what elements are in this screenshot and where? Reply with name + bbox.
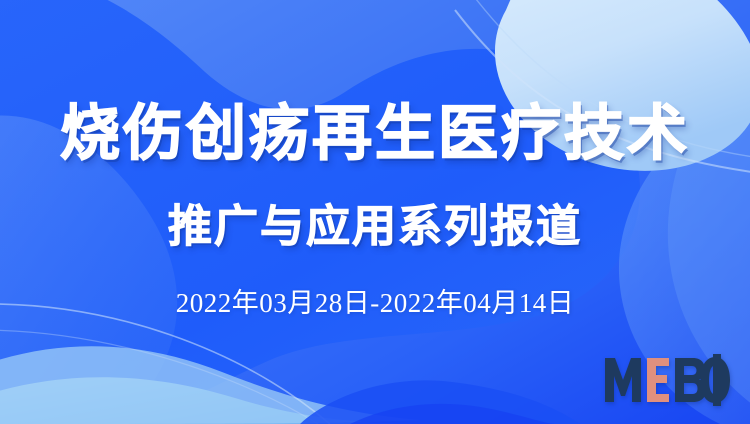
mebo-logo [603, 352, 735, 408]
banner-content: 烧伤创疡再生医疗技术 推广与应用系列报道 2022年03月28日-2022年04… [0, 0, 750, 424]
logo-glyph-m [605, 358, 641, 402]
logo-letterforms [605, 354, 730, 406]
date-range-label: 2022年03月28日-2022年04月14日 [0, 286, 750, 320]
logo-glyph-o-bar [713, 354, 721, 406]
page-title: 烧伤创疡再生医疗技术 [0, 99, 750, 169]
page-subtitle: 推广与应用系列报道 [0, 200, 750, 254]
promo-banner: 烧伤创疡再生医疗技术 推广与应用系列报道 2022年03月28日-2022年04… [0, 0, 750, 424]
logo-glyph-e [647, 358, 669, 402]
